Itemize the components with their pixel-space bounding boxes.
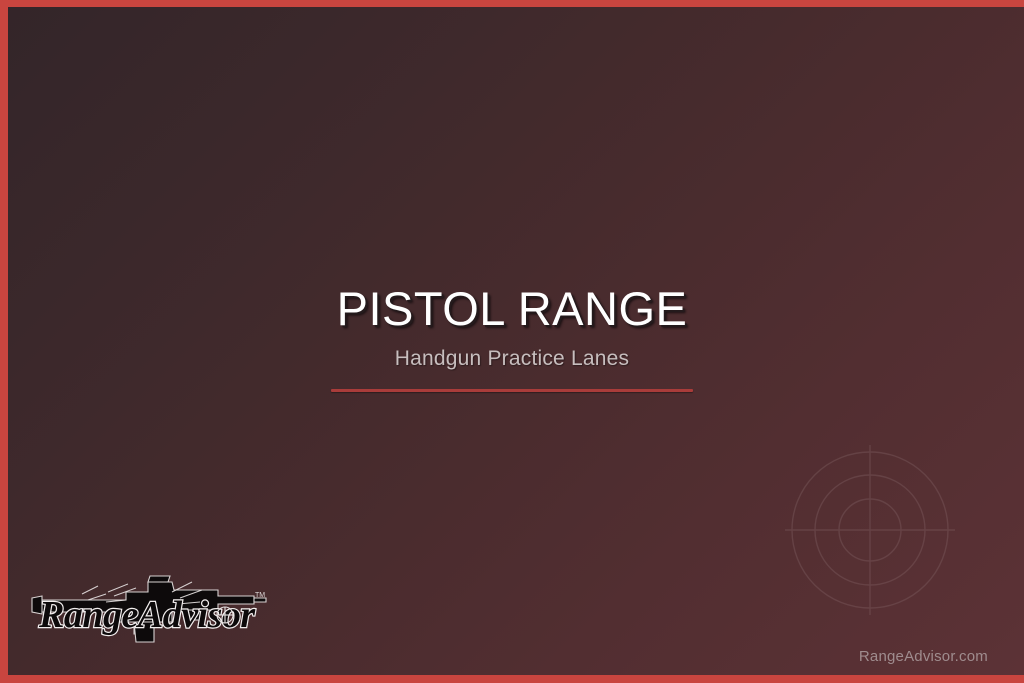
brand-logo: RangeAdvisor TM bbox=[22, 570, 270, 648]
accent-divider bbox=[331, 389, 693, 392]
presentation-slide: PISTOL RANGE Handgun Practice Lanes bbox=[0, 0, 1024, 683]
footer-url: RangeAdvisor.com bbox=[859, 648, 988, 665]
page-title: PISTOL RANGE bbox=[0, 284, 1024, 333]
slide-border-bottom bbox=[0, 675, 1024, 683]
crosshair-target-icon bbox=[781, 441, 959, 619]
scope-ring-icon bbox=[217, 607, 233, 623]
slide-border-top bbox=[0, 0, 1024, 7]
page-subtitle: Handgun Practice Lanes bbox=[0, 346, 1024, 371]
brand-trademark: TM bbox=[255, 592, 265, 599]
title-block: PISTOL RANGE Handgun Practice Lanes bbox=[0, 284, 1024, 392]
